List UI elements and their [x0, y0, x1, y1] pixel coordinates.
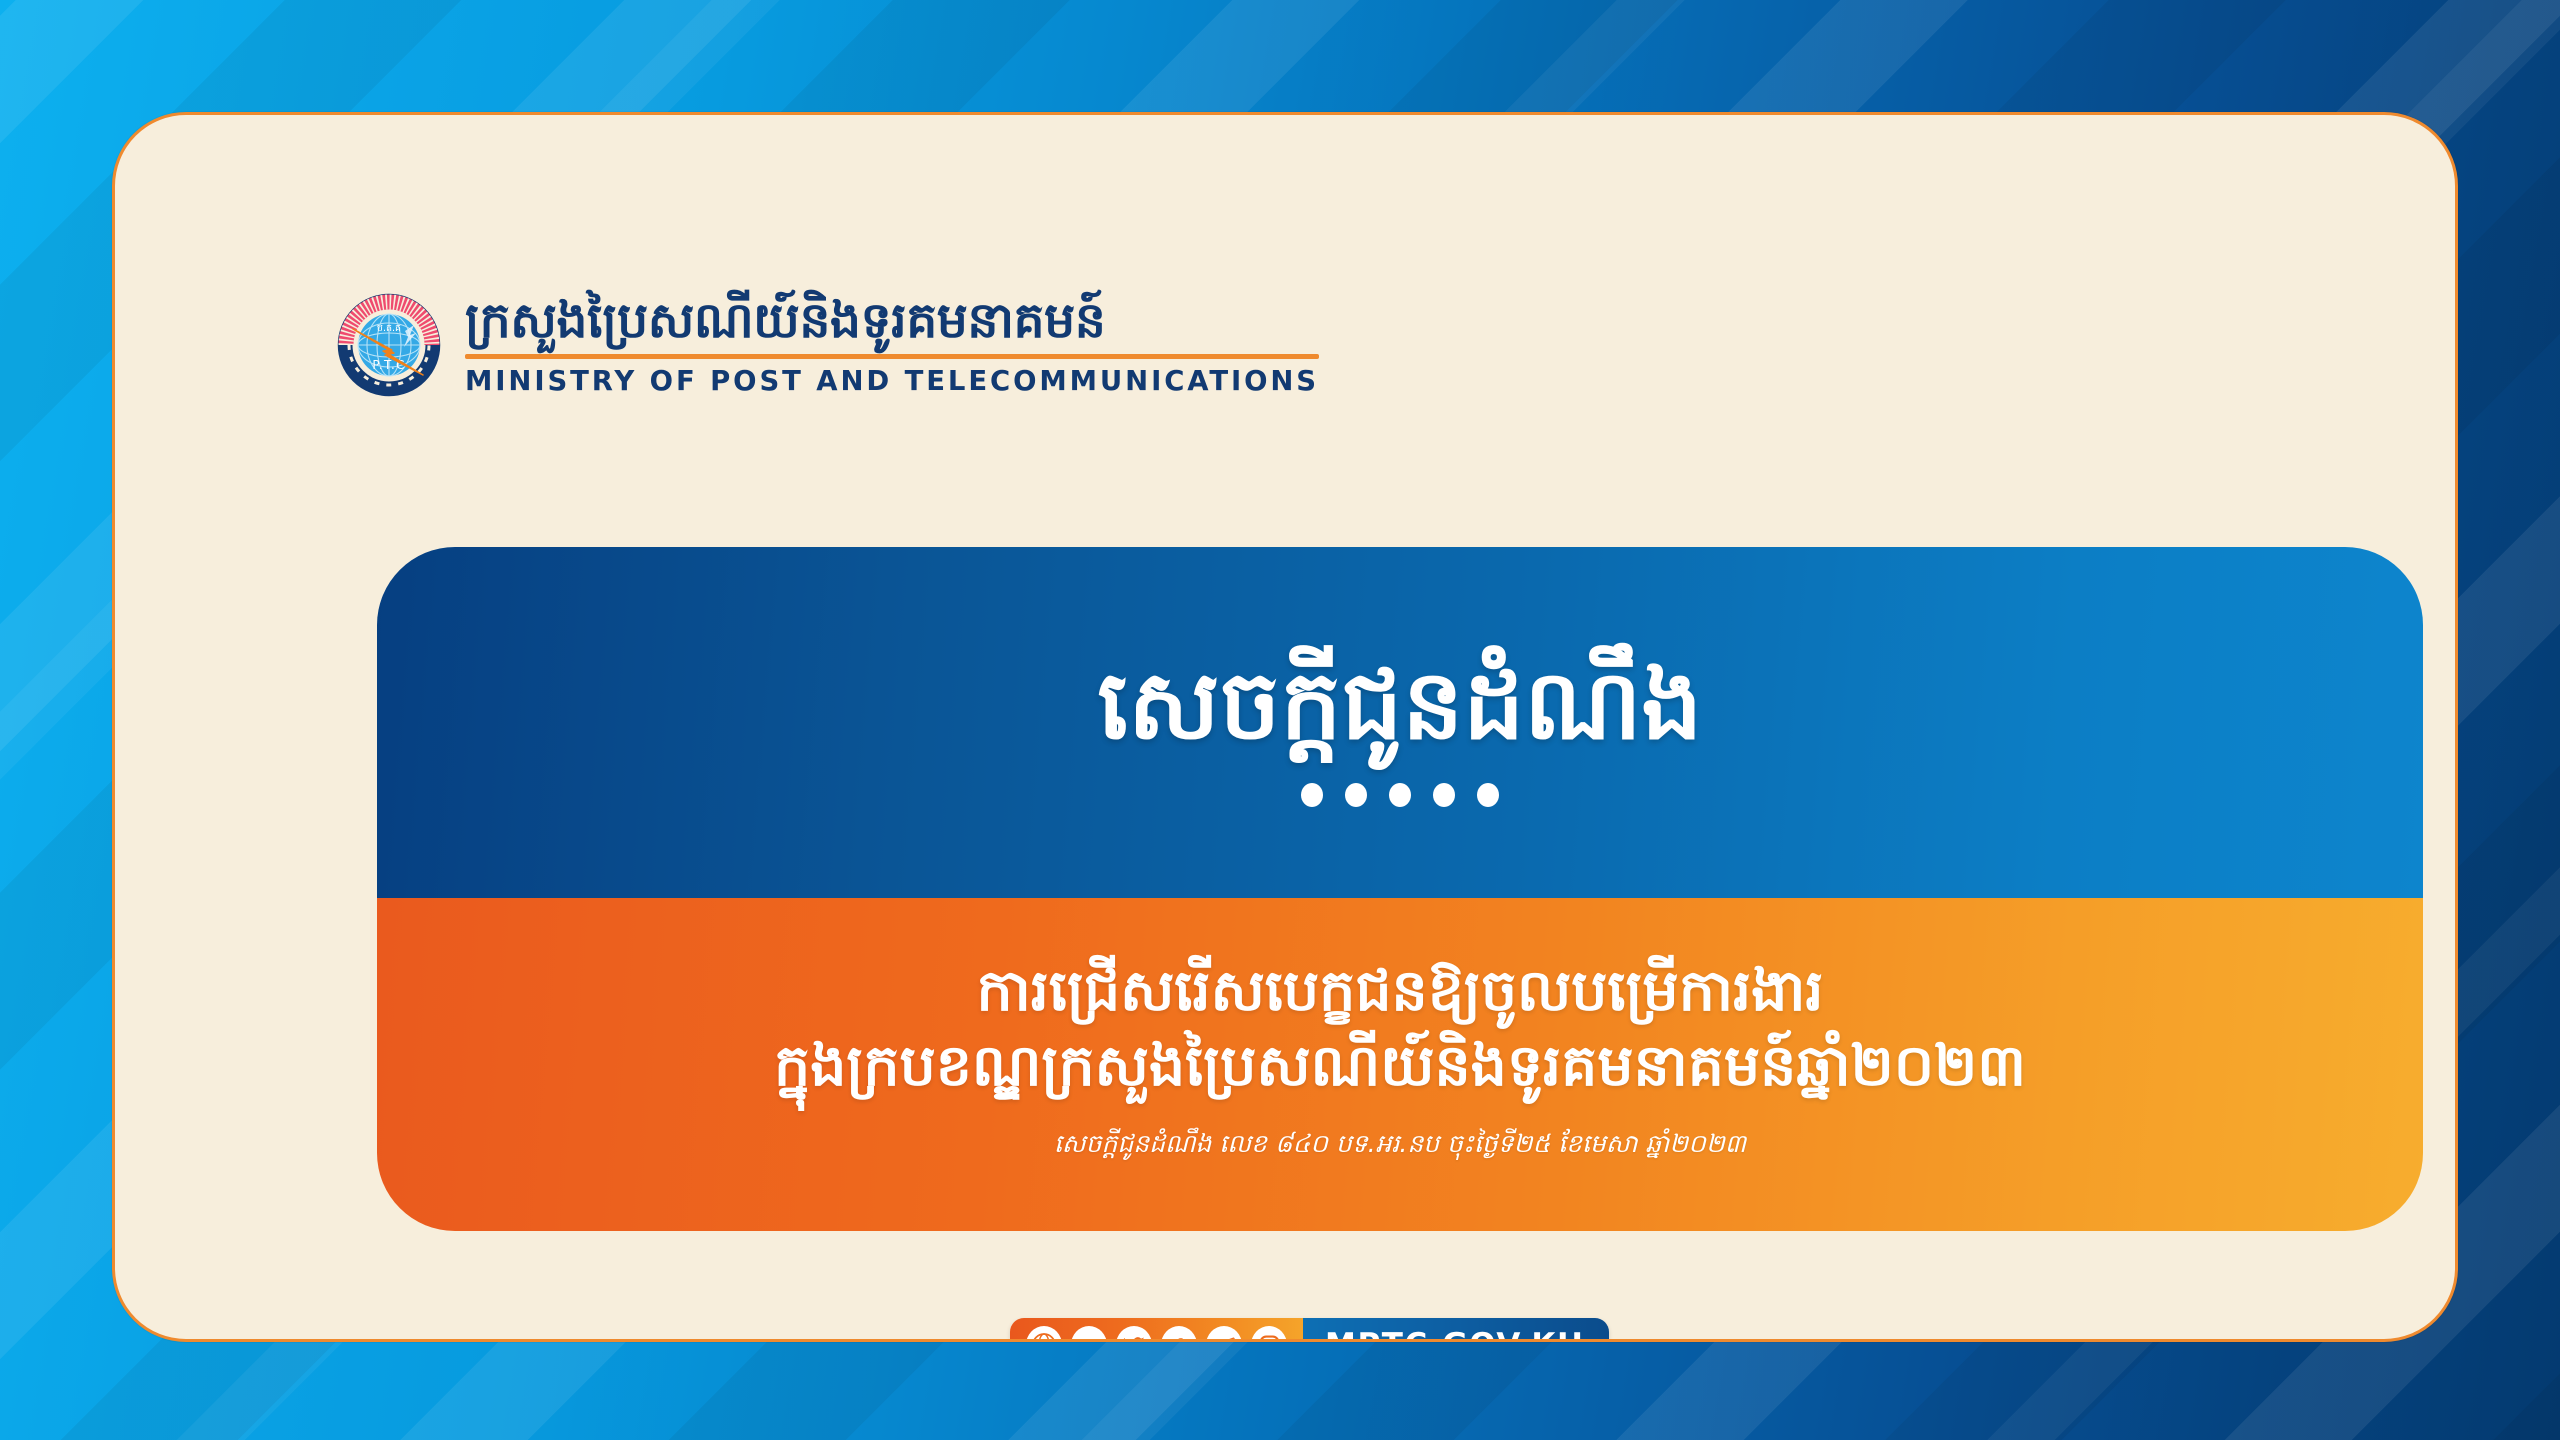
- ministry-name-block: ក្រសួងប្រៃសណីយ៍និងទូរគមនាគមន៍ MINISTRY O…: [465, 293, 1319, 396]
- website-globe-icon[interactable]: WWW: [1026, 1326, 1062, 1342]
- announcement-title: សេចក្តីជូនដំណឹង: [1098, 652, 1703, 760]
- telegram-icon[interactable]: [1206, 1326, 1242, 1342]
- svg-text:ប.ត.គ: ប.ត.គ: [377, 323, 401, 334]
- dot-3: [1389, 783, 1411, 807]
- ministry-name-kh: ក្រសួងប្រៃសណីយ៍និងទូរគមនាគមន៍: [465, 295, 1319, 346]
- dot-2: [1345, 783, 1367, 807]
- instagram-icon[interactable]: [1251, 1326, 1287, 1342]
- facebook-icon[interactable]: [1161, 1326, 1197, 1342]
- dot-4: [1433, 783, 1455, 807]
- subject-line-1: ការជ្រើសរើសបេក្ខជនឱ្យចូលបម្រើការងារ: [977, 954, 1824, 1028]
- announcement-card: ប.ត.គ P.T.C ក្រសួងប្រៃសណីយ៍និងទូរគមនាគមន…: [112, 112, 2458, 1342]
- announcement-reference: សេចក្តីជូនដំណឹង លេខ ៨៤០ បទ.អរ.នប ចុះថ្ងៃ…: [1054, 1129, 1746, 1165]
- svg-text:P.T.C: P.T.C: [372, 358, 405, 372]
- website-domain-label[interactable]: MPTC.GOV.KH: [1303, 1318, 1609, 1342]
- youtube-icon[interactable]: [1071, 1326, 1107, 1342]
- ministry-name-en: MINISTRY OF POST AND TELECOMMUNICATIONS: [465, 365, 1319, 397]
- announcement-banner: សេចក្តីជូនដំណឹង ការជ្រើសរើសបេក្ខជនឱ្យចូល…: [377, 547, 2423, 1231]
- dot-1: [1301, 783, 1323, 807]
- dot-5: [1477, 783, 1499, 807]
- ministry-header: ប.ត.គ P.T.C ក្រសួងប្រៃសណីយ៍និងទូរគមនាគមន…: [337, 293, 1319, 397]
- subject-line-2: ក្នុងក្របខណ្ឌក្រសួងប្រៃសណីយ៍និងទូរគមនាគម…: [774, 1029, 2026, 1103]
- svg-text:WWW: WWW: [1032, 1341, 1057, 1342]
- banner-subject-section: ការជ្រើសរើសបេក្ខជនឱ្យចូលបម្រើការងារ ក្នុ…: [377, 898, 2423, 1231]
- social-icon-group: WWW: [1010, 1318, 1303, 1342]
- ministry-name-divider: [465, 354, 1319, 359]
- decorative-dots: [1301, 783, 1499, 807]
- twitter-icon[interactable]: [1116, 1326, 1152, 1342]
- ptc-globe-lightning-emblem: ប.ត.គ P.T.C: [337, 293, 441, 397]
- banner-title-section: សេចក្តីជូនដំណឹង: [377, 547, 2423, 898]
- social-links-bar[interactable]: WWW: [1010, 1318, 1609, 1342]
